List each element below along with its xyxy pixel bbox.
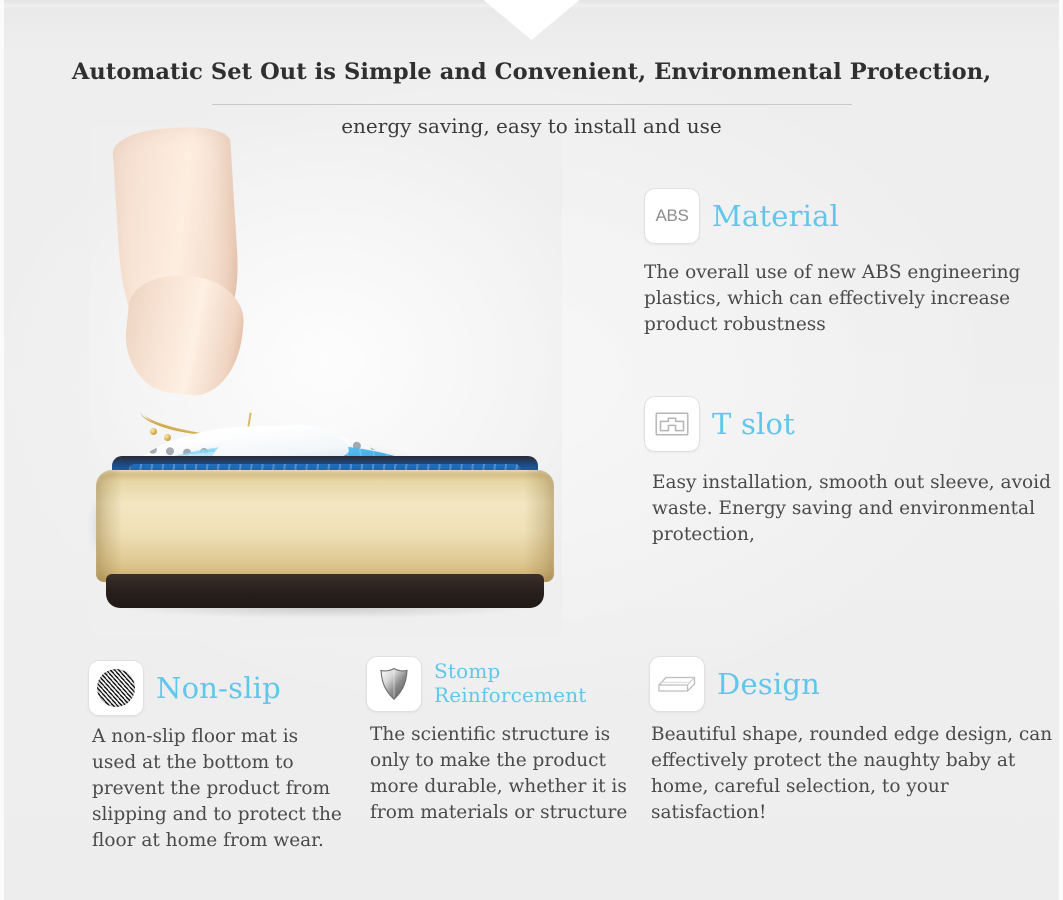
feature-design-header: Design <box>649 656 1063 712</box>
page-title: Automatic Set Out is Simple and Convenie… <box>4 60 1059 85</box>
box-design-icon <box>649 656 705 712</box>
feature-non-slip-header: Non-slip <box>88 660 346 716</box>
t-slot-icon-glyph <box>655 412 689 436</box>
machine-floor-shadow <box>122 608 528 618</box>
page-subtitle: energy saving, easy to install and use <box>4 114 1059 138</box>
feature-design-title: Design <box>717 669 820 700</box>
dispenser-machine-illustration <box>96 456 554 618</box>
machine-dark-base <box>106 574 544 608</box>
box-design-icon-glyph <box>657 671 697 697</box>
non-slip-texture-icon-glyph <box>97 669 135 707</box>
feature-material-header: ABS Material <box>644 188 1063 244</box>
feature-non-slip: Non-slip A non-slip floor mat is used at… <box>88 660 346 853</box>
anklet-bead <box>164 434 171 441</box>
feature-t-slot-body: Easy installation, smooth out sleeve, av… <box>652 470 1063 548</box>
feature-t-slot: T slot Easy installation, smooth out sle… <box>644 396 1063 548</box>
abs-material-icon-label: ABS <box>655 206 688 226</box>
feature-non-slip-body: A non-slip floor mat is used at the bott… <box>92 724 346 853</box>
feature-stomp-reinforcement-body: The scientific structure is only to make… <box>370 722 634 826</box>
feature-t-slot-title: T slot <box>712 409 795 440</box>
feature-t-slot-header: T slot <box>644 396 1063 452</box>
infographic-page: Automatic Set Out is Simple and Convenie… <box>0 0 1063 900</box>
t-slot-icon <box>644 396 700 452</box>
headline-block: Automatic Set Out is Simple and Convenie… <box>4 60 1059 138</box>
machine-gold-body <box>96 470 554 582</box>
shield-icon <box>366 656 422 712</box>
feature-stomp-reinforcement: Stomp Reinforcement The scientific struc… <box>366 656 634 826</box>
feature-stomp-reinforcement-title: Stomp Reinforcement <box>434 660 587 707</box>
feature-design: Design Beautiful shape, rounded edge des… <box>649 656 1063 826</box>
anklet-bead <box>150 428 157 435</box>
feature-material: ABS Material The overall use of new ABS … <box>644 188 1063 338</box>
product-photo <box>90 126 562 638</box>
feature-stomp-reinforcement-header: Stomp Reinforcement <box>366 656 634 712</box>
feature-material-title: Material <box>712 201 839 232</box>
shield-icon-glyph <box>379 667 409 701</box>
title-divider <box>212 104 852 105</box>
feature-non-slip-title: Non-slip <box>156 673 281 704</box>
feature-material-body: The overall use of new ABS engineering p… <box>644 260 1063 338</box>
abs-material-icon: ABS <box>644 188 700 244</box>
top-notch-triangle-icon <box>484 0 580 40</box>
non-slip-texture-icon <box>88 660 144 716</box>
feature-stomp-title-line1: Stomp <box>434 659 501 683</box>
feature-design-body: Beautiful shape, rounded edge design, ca… <box>651 722 1063 826</box>
feature-stomp-title-line2: Reinforcement <box>434 683 587 707</box>
